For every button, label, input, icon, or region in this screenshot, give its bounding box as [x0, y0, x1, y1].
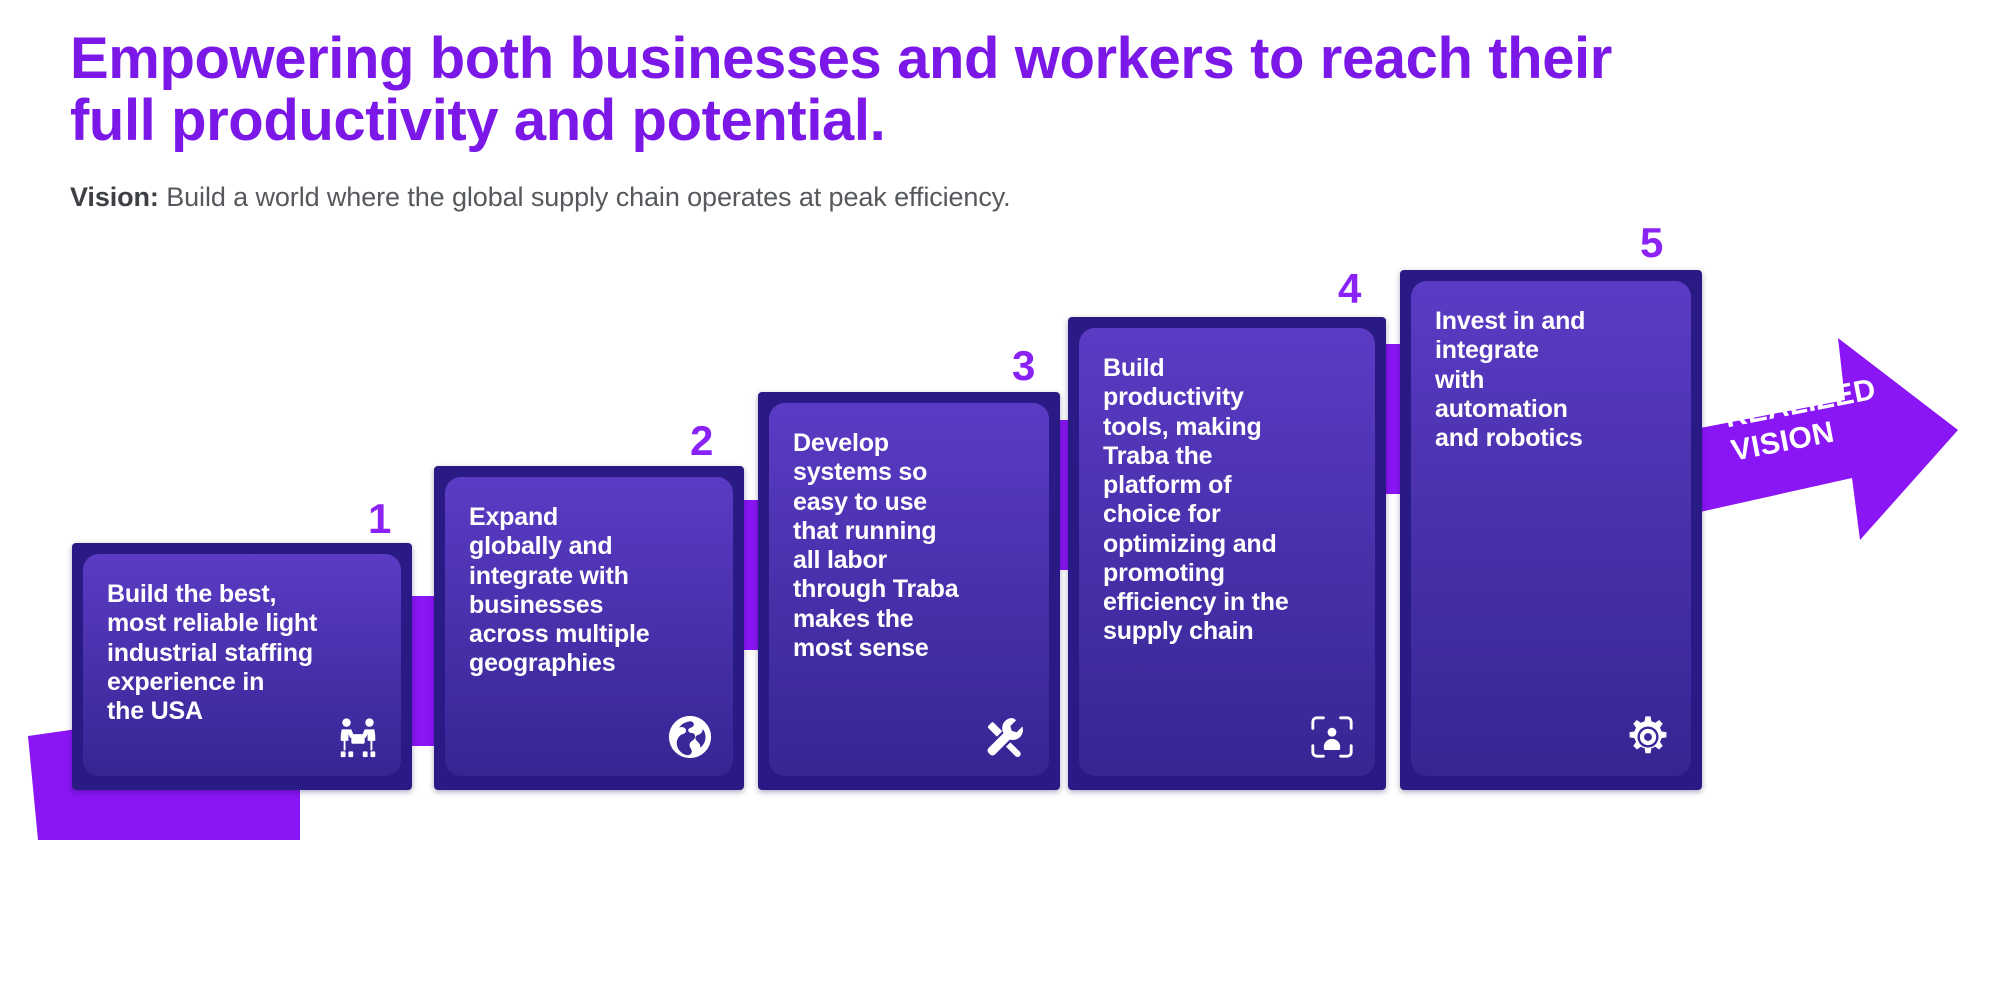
step-card-2-text: Expand globally and integrate with busin…	[469, 503, 709, 679]
step-card-1-text: Build the best, most reliable light indu…	[107, 580, 377, 726]
workers-carrying-box-icon	[335, 714, 381, 760]
person-scan-icon	[1309, 714, 1355, 760]
step-card-2[interactable]: Expand globally and integrate with busin…	[434, 466, 744, 790]
step-card-5[interactable]: Invest in and integrate with automation …	[1400, 270, 1702, 790]
globe-icon	[667, 714, 713, 760]
step-card-2-inner: Expand globally and integrate with busin…	[445, 477, 733, 776]
step-number-2: 2	[690, 420, 712, 462]
gear-icon	[1625, 714, 1671, 760]
step-card-3-text: Develop systems so easy to use that runn…	[793, 429, 1025, 663]
step-number-3: 3	[1012, 345, 1034, 387]
step-card-1-inner: Build the best, most reliable light indu…	[83, 554, 401, 776]
step-number-5: 5	[1640, 222, 1662, 264]
step-card-4-inner: Build productivity tools, making Traba t…	[1079, 328, 1375, 776]
step-card-3[interactable]: Develop systems so easy to use that runn…	[758, 392, 1060, 790]
roadmap-staircase: 1 Build the best, most reliable light in…	[0, 0, 2000, 989]
step-card-4[interactable]: Build productivity tools, making Traba t…	[1068, 317, 1386, 790]
step-number-4: 4	[1338, 268, 1360, 310]
step-number-1: 1	[368, 498, 390, 540]
step-card-5-text: Invest in and integrate with automation …	[1435, 307, 1667, 453]
step-card-3-inner: Develop systems so easy to use that runn…	[769, 403, 1049, 776]
tools-icon	[983, 714, 1029, 760]
step-card-4-text: Build productivity tools, making Traba t…	[1103, 354, 1351, 647]
step-card-1[interactable]: Build the best, most reliable light indu…	[72, 543, 412, 790]
step-card-5-inner: Invest in and integrate with automation …	[1411, 281, 1691, 776]
